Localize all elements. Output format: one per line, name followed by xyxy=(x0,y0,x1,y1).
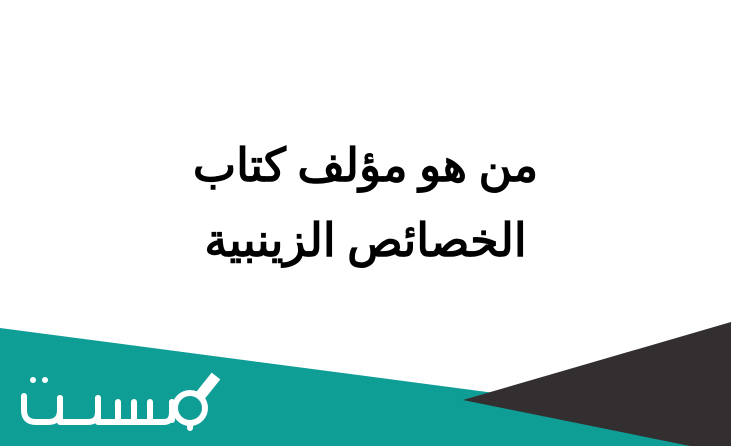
brand-logo[interactable]: موسوعة xyxy=(14,362,224,434)
page-title-line-2: الخصائص الزينبية xyxy=(0,203,731,278)
logo-letter-meem-head xyxy=(175,393,205,423)
dark-triangle-shape xyxy=(463,322,731,446)
logo-letter-ain xyxy=(60,398,98,422)
magnifier-stroke-icon xyxy=(200,376,216,396)
logo-dot-right xyxy=(42,377,48,383)
logo-letter-ta-marbuta xyxy=(24,396,60,422)
screenshot-canvas: من هو مؤلف كتاب الخصائص الزينبية xyxy=(0,0,731,446)
logo-dot-left xyxy=(30,377,36,383)
page-title-line-1: من هو مؤلف كتاب xyxy=(0,128,731,203)
page-title: من هو مؤلف كتاب الخصائص الزينبية xyxy=(0,128,731,278)
logo-letter-seen xyxy=(118,402,172,422)
brand-logo-mark xyxy=(14,362,224,434)
